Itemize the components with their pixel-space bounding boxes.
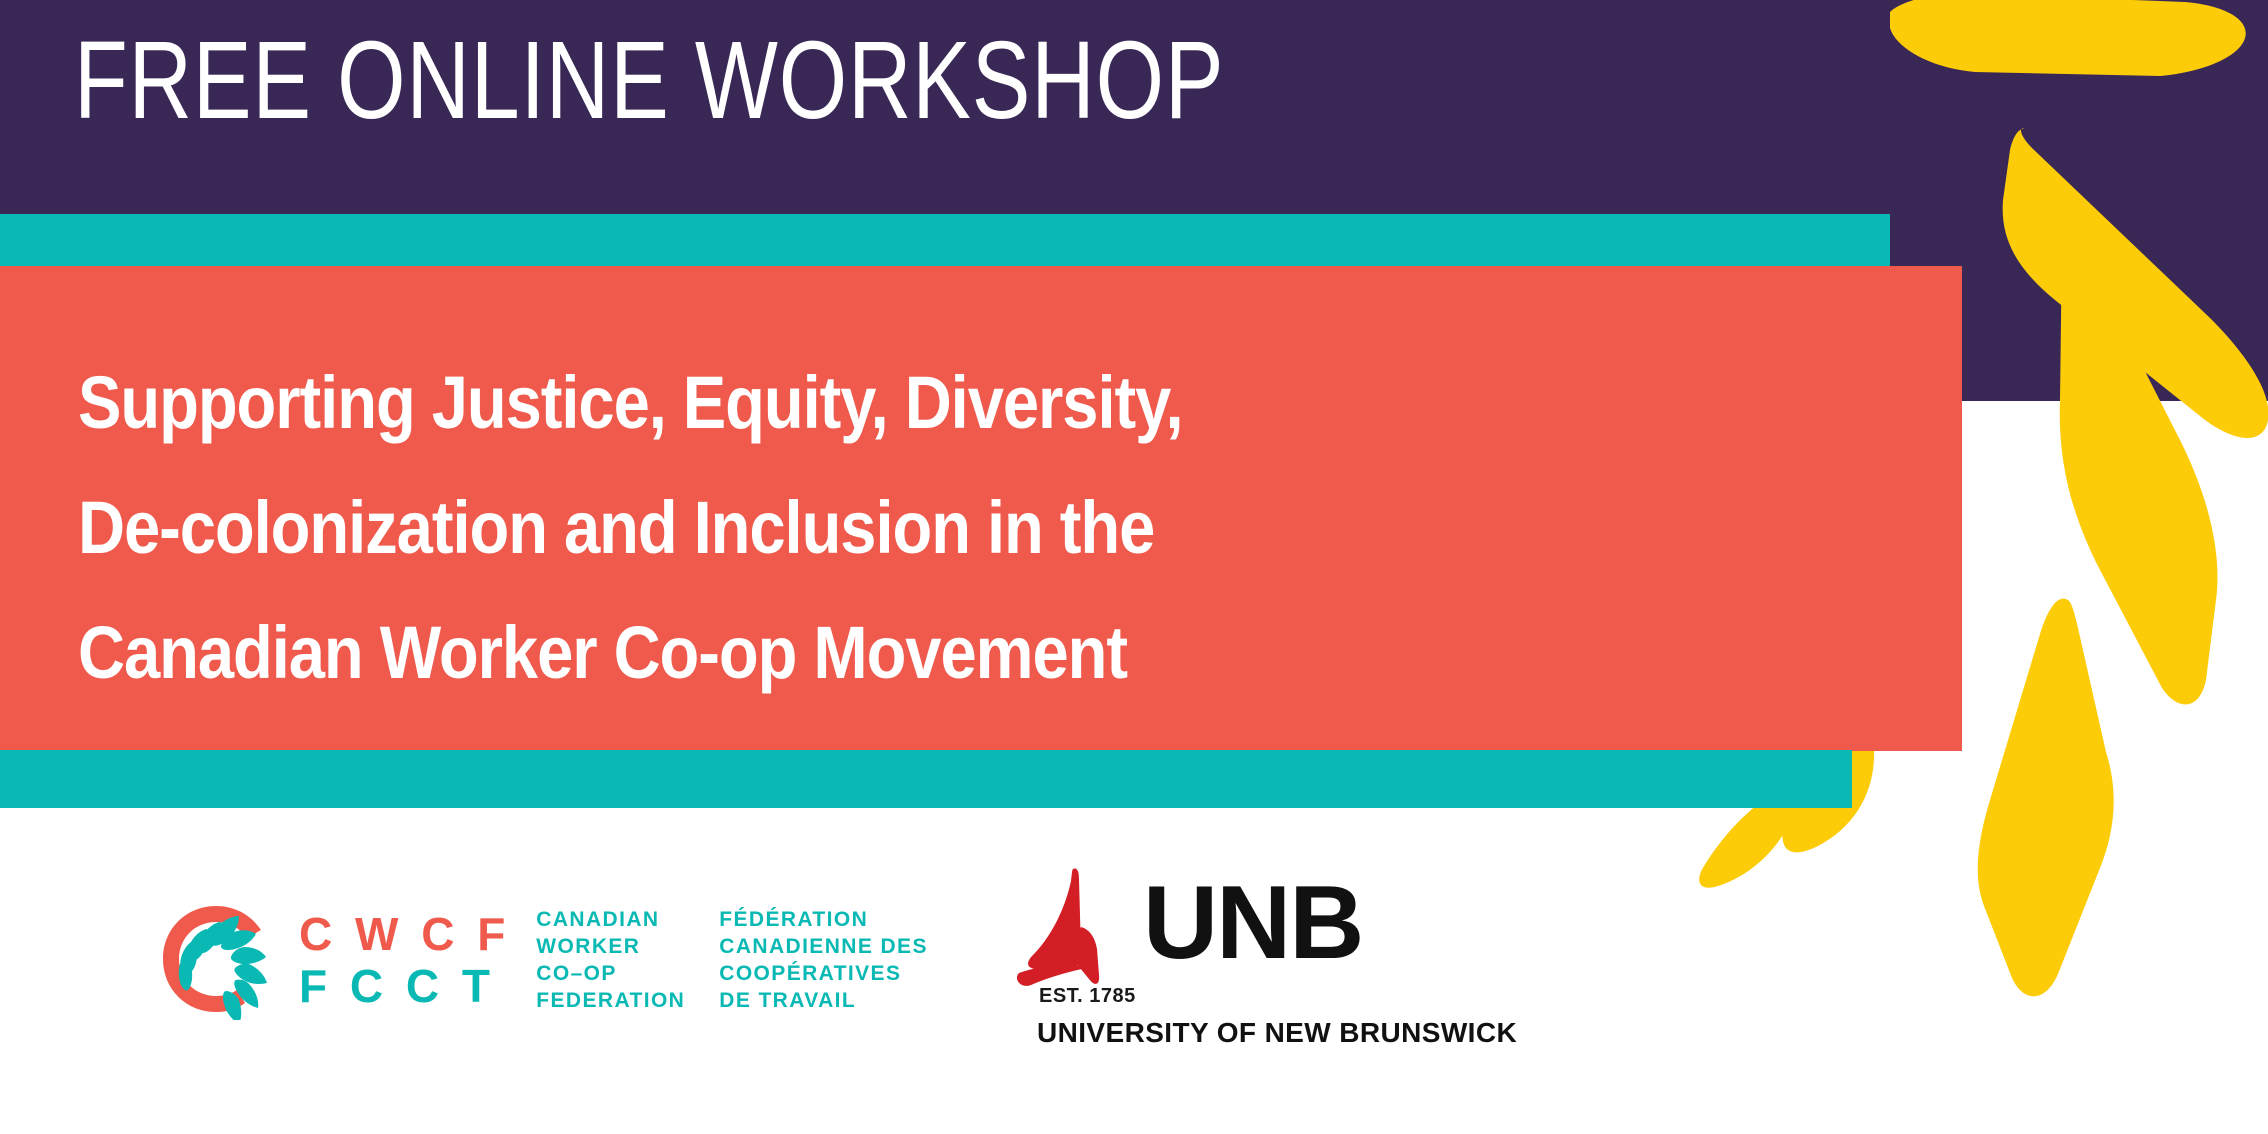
- sponsor-logo-row: C W C F F C C T CANADIAN WORKER CO–OP FE…: [0, 855, 2268, 1085]
- unb-full-name: UNIVERSITY OF NEW BRUNSWICK: [1037, 1017, 1517, 1049]
- cwcf-fr-line-2: CANADIENNE DES: [719, 933, 928, 960]
- title-line-2: De-colonization and Inclusion in the: [78, 465, 1662, 590]
- cwcf-initials: C W C F F C C T: [299, 908, 510, 1012]
- cwcf-wordmark: CANADIAN WORKER CO–OP FEDERATION FÉDÉRAT…: [536, 906, 962, 1014]
- cwcf-fr-line-4: DE TRAVAIL: [719, 987, 928, 1014]
- cwcf-en-line-1: CANADIAN: [536, 906, 685, 933]
- title-line-3: Canadian Worker Co-op Movement: [78, 590, 1662, 715]
- cwcf-initials-line-2: F C C T: [299, 960, 510, 1012]
- cwcf-fr-line-3: COOPÉRATIVES: [719, 960, 928, 987]
- cwcf-en-line-2: WORKER: [536, 933, 685, 960]
- workshop-title: Supporting Justice, Equity, Diversity, D…: [78, 340, 1878, 715]
- cwcf-english-name: CANADIAN WORKER CO–OP FEDERATION: [536, 906, 685, 1014]
- title-line-1: Supporting Justice, Equity, Diversity,: [78, 340, 1662, 465]
- unb-letters: UNB: [1143, 871, 1362, 975]
- cwcf-en-line-4: FEDERATION: [536, 987, 685, 1014]
- unb-established: EST. 1785: [1039, 985, 1136, 1008]
- cwcf-initials-line-1: C W C F: [299, 908, 510, 960]
- workshop-eyebrow-text: FREE ONLINE WORKSHOP: [74, 22, 1224, 140]
- cwcf-fr-line-1: FÉDÉRATION: [719, 906, 928, 933]
- cwcf-logo[interactable]: C W C F F C C T CANADIAN WORKER CO–OP FE…: [155, 900, 962, 1020]
- cwcf-en-line-3: CO–OP: [536, 960, 685, 987]
- poster-canvas: FREE ONLINE WORKSHOP Supporting Justice,…: [0, 0, 2268, 1134]
- teal-accent-bar-top: [0, 214, 1890, 268]
- cwcf-leaf-ring-icon: [155, 900, 277, 1020]
- unb-sail-icon: [1015, 867, 1155, 997]
- teal-accent-bar-bottom: [0, 750, 1852, 808]
- cwcf-french-name: FÉDÉRATION CANADIENNE DES COOPÉRATIVES D…: [719, 906, 928, 1014]
- unb-logo[interactable]: UNB EST. 1785 UNIVERSITY OF NEW BRUNSWIC…: [1015, 867, 1475, 1047]
